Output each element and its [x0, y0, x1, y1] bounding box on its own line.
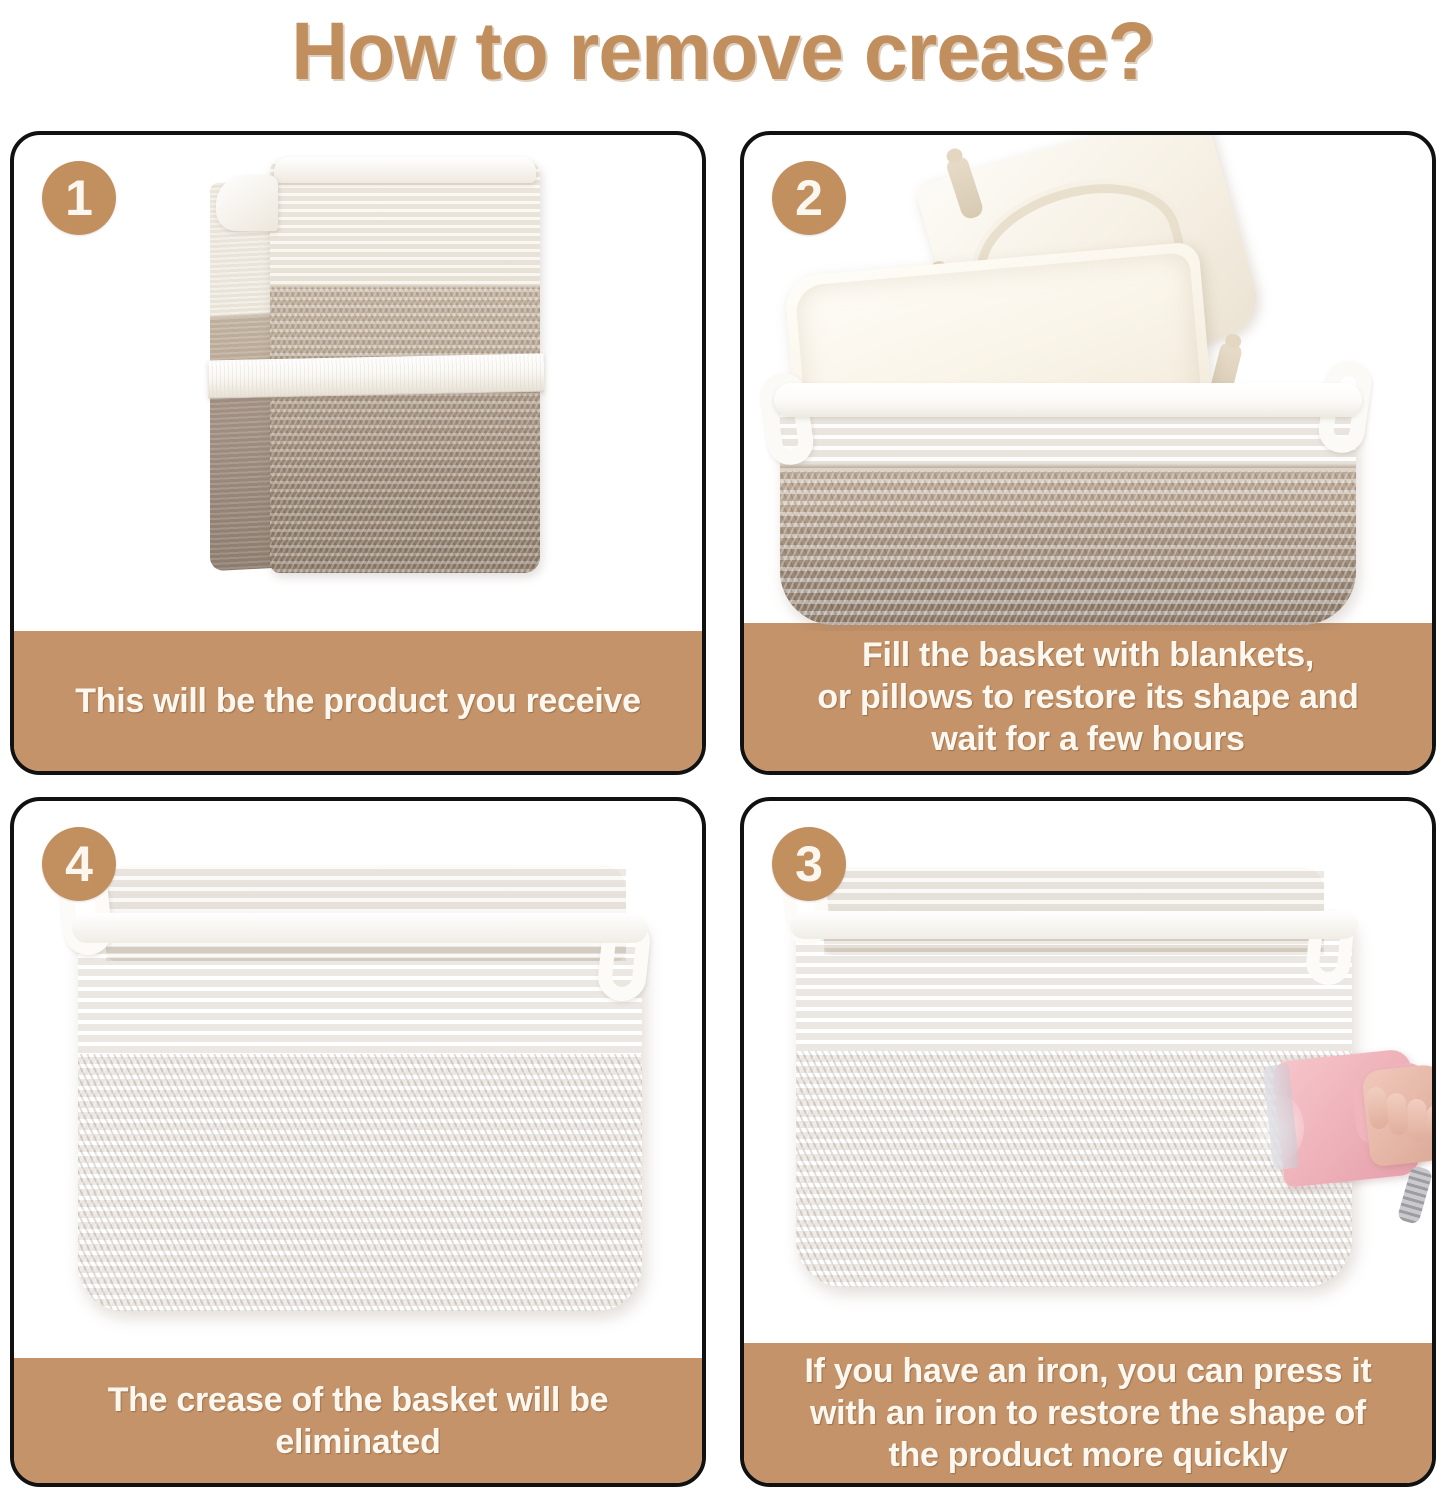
- basket-pillows-illustration: [762, 143, 1422, 631]
- step-number-badge-1: 1: [42, 161, 116, 235]
- basket-rim: [774, 383, 1362, 417]
- empty-basket-illustration: [62, 857, 672, 1327]
- page-title: How to remove crease?: [29, 6, 1417, 98]
- step-caption-4: The crease of the basket will be elimina…: [14, 1358, 702, 1483]
- step-panel-3: 3: [740, 797, 1436, 1487]
- rope-texture: [780, 391, 1356, 625]
- step-caption-2: Fill the basket with blankets, or pillow…: [744, 623, 1432, 771]
- basket-steamer-illustration: [784, 861, 1424, 1321]
- basket-rim: [72, 913, 648, 943]
- step-number-badge-2: 2: [772, 161, 846, 235]
- caption-line: Fill the basket with blankets,: [862, 634, 1314, 676]
- folded-top-edge: [274, 157, 536, 183]
- weave-texture: [780, 471, 1356, 625]
- caption-line: If you have an iron, you can press it: [804, 1350, 1371, 1392]
- step-number-badge-4: 4: [42, 827, 116, 901]
- infographic-page: How to remove crease? 1 This will be the…: [0, 0, 1446, 1500]
- caption-line: eliminated: [275, 1421, 440, 1463]
- step-panel-2: 2 Fill the basket with blankets, or pill…: [740, 131, 1436, 775]
- caption-line: with an iron to restore the shape of: [810, 1392, 1366, 1434]
- step-panel-4: 4 The crease of the basket will be elimi…: [10, 797, 706, 1487]
- step-image-empty-basket: [14, 801, 702, 1366]
- step-caption-1: This will be the product you receive: [14, 631, 702, 771]
- step-image-basket-with-steamer: [744, 801, 1432, 1351]
- step-number-badge-3: 3: [772, 827, 846, 901]
- step-caption-3: If you have an iron, you can press it wi…: [744, 1343, 1432, 1483]
- step-image-basket-with-pillows: [744, 135, 1432, 631]
- basket-rim: [790, 911, 1358, 939]
- caption-line: This will be the product you receive: [75, 680, 640, 722]
- folded-basket-illustration: [210, 161, 540, 581]
- caption-line: or pillows to restore its shape and: [817, 676, 1358, 718]
- step-image-folded-basket: [14, 135, 702, 639]
- garment-steamer-icon: [1262, 1045, 1432, 1223]
- step-panel-1: 1 This will be the product you receive: [10, 131, 706, 775]
- caption-line: wait for a few hours: [931, 718, 1244, 760]
- caption-line: The crease of the basket will be: [108, 1379, 609, 1421]
- basket-body: [78, 921, 642, 1311]
- white-packing-strap: [208, 353, 545, 398]
- finger: [1407, 1098, 1429, 1141]
- basket-body: [780, 391, 1356, 625]
- weave-texture: [78, 1054, 642, 1311]
- rope-texture: [78, 921, 642, 1311]
- folded-corner-curl: [216, 175, 278, 231]
- caption-line: the product more quickly: [889, 1434, 1288, 1476]
